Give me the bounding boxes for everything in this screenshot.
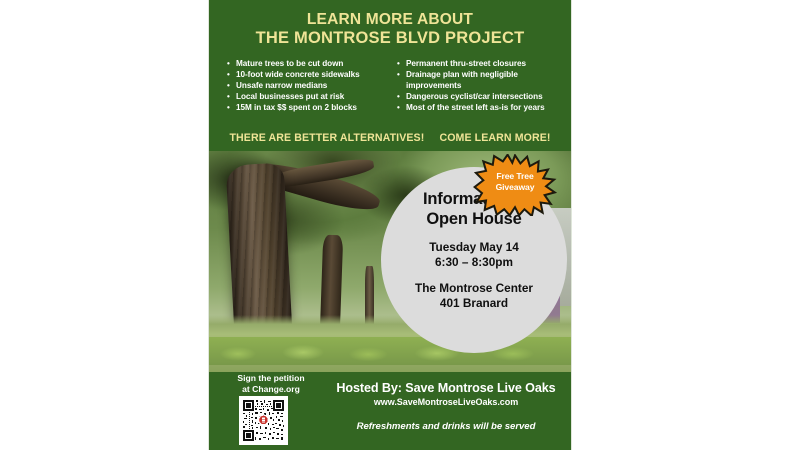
event-venue: The Montrose Center (381, 281, 567, 296)
website-link[interactable]: www.SaveMontroseLiveOaks.com (327, 396, 565, 408)
list-item: • 10-foot wide concrete sidewalks (227, 70, 385, 81)
flyer-headline: LEARN MORE ABOUT THE MONTROSE BLVD PROJE… (217, 0, 563, 48)
petition-qr-code[interactable] (239, 396, 288, 445)
host-information: Hosted By: Save Montrose Live Oaks www.S… (327, 380, 565, 433)
flyer-footer-panel: Sign the petition at Change.org (209, 372, 571, 450)
list-item-label: Mature trees to be cut down (236, 59, 343, 70)
list-item: • Drainage plan with negligible improvem… (397, 70, 555, 91)
list-item-label: 10-foot wide concrete sidewalks (236, 70, 360, 81)
screenshot-canvas: LEARN MORE ABOUT THE MONTROSE BLVD PROJE… (0, 0, 800, 450)
headline-line-2: THE MONTROSE BLVD PROJECT (217, 29, 563, 48)
bullet-column-left: • Mature trees to be cut down • 10-foot … (227, 59, 385, 114)
list-item-label: Local businesses put at risk (236, 92, 344, 103)
refreshments-note: Refreshments and drinks will be served (327, 420, 565, 433)
list-item: • Permanent thru-street closures (397, 59, 555, 70)
list-item: • Dangerous cyclist/car intersections (397, 92, 555, 103)
bullet-dot-icon: • (227, 103, 236, 114)
list-item-label: 15M in tax $$ spent on 2 blocks (236, 103, 357, 114)
alternatives-part-2: COME LEARN MORE! (439, 132, 550, 144)
bullet-dot-icon: • (227, 81, 236, 92)
bullet-dot-icon: • (227, 70, 236, 81)
list-item: • Unsafe narrow medians (227, 81, 385, 92)
event-time: 6:30 – 8:30pm (381, 255, 567, 270)
event-address: 401 Branard (381, 296, 567, 311)
bullet-dot-icon: • (397, 103, 406, 114)
qr-code-icon (242, 399, 285, 442)
event-location: The Montrose Center 401 Branard (381, 281, 567, 311)
starburst-icon (473, 154, 557, 216)
bullet-dot-icon: • (227, 59, 236, 70)
hosted-by-label: Hosted By: Save Montrose Live Oaks (327, 380, 565, 396)
bullet-column-right: • Permanent thru-street closures • Drain… (391, 59, 555, 114)
concerns-bullet-lists: • Mature trees to be cut down • 10-foot … (217, 59, 563, 114)
list-item-label: Dangerous cyclist/car intersections (406, 92, 543, 103)
bullet-dot-icon: • (397, 70, 406, 81)
list-item-label: Drainage plan with negligible improvemen… (406, 70, 555, 91)
flyer-header-panel: LEARN MORE ABOUT THE MONTROSE BLVD PROJE… (209, 0, 571, 151)
bullet-dot-icon: • (227, 92, 236, 103)
list-item-label: Most of the street left as-is for years (406, 103, 545, 114)
list-item: • 15M in tax $$ spent on 2 blocks (227, 103, 385, 114)
petition-line-2: at Change.org (217, 384, 325, 395)
list-item-label: Unsafe narrow medians (236, 81, 327, 92)
list-item: • Most of the street left as-is for year… (397, 103, 555, 114)
event-date: Tuesday May 14 (381, 240, 567, 255)
list-item-label: Permanent thru-street closures (406, 59, 526, 70)
list-item: • Local businesses put at risk (227, 92, 385, 103)
live-oaks-street-photo: Informational Open House Tuesday May 14 … (209, 151, 571, 372)
event-datetime: Tuesday May 14 6:30 – 8:30pm (381, 240, 567, 270)
bullet-dot-icon: • (397, 92, 406, 103)
bullet-dot-icon: • (397, 59, 406, 70)
headline-line-1: LEARN MORE ABOUT (217, 10, 563, 29)
petition-callout: Sign the petition at Change.org (217, 373, 325, 395)
montrose-blvd-flyer: LEARN MORE ABOUT THE MONTROSE BLVD PROJE… (208, 0, 572, 450)
alternatives-tagline: THERE ARE BETTER ALTERNATIVES! COME LEAR… (209, 132, 571, 144)
petition-line-1: Sign the petition (217, 373, 325, 384)
list-item: • Mature trees to be cut down (227, 59, 385, 70)
free-tree-giveaway-badge: Free Tree Giveaway (473, 154, 557, 216)
alternatives-part-1: THERE ARE BETTER ALTERNATIVES! (229, 132, 424, 144)
